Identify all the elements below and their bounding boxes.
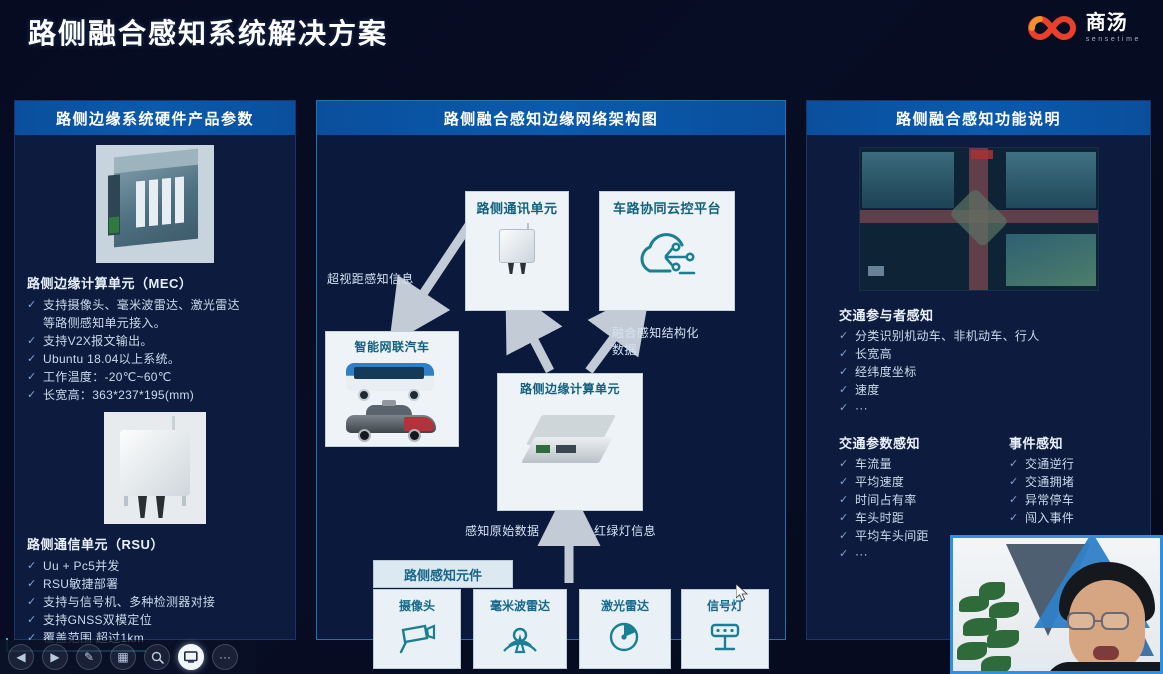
list-item: 支持GNSS双模定位 xyxy=(27,611,295,629)
next-slide-button[interactable]: ▶ xyxy=(42,644,68,670)
page-title: 路侧融合感知系统解决方案 xyxy=(28,12,388,52)
rsu-device-icon xyxy=(494,223,540,273)
mec-feature-list: 支持摄像头、毫米波雷达、激光雷达 等路侧感知单元接入。 支持V2X报文输出。 U… xyxy=(27,296,295,404)
sensor-camera[interactable]: 摄像头 xyxy=(373,589,461,669)
camera-icon xyxy=(397,620,437,654)
mec-photo-wrap xyxy=(15,145,295,263)
logo-cn-text: 商汤 xyxy=(1086,13,1141,33)
list-item: 平均速度 xyxy=(839,473,971,491)
node-label: 车路协同云控平台 xyxy=(613,198,721,217)
cloud-computing-icon xyxy=(630,225,704,287)
events-list: 交通逆行 交通拥堵 异常停车 闯入事件 xyxy=(1009,455,1141,527)
sensor-lidar[interactable]: 激光雷达 xyxy=(579,589,671,669)
list-item: 交通逆行 xyxy=(1009,455,1141,473)
list-item: 工作温度：-20℃~60℃ xyxy=(27,368,295,386)
node-roadside-edge-computing-unit[interactable]: 路侧边缘计算单元 xyxy=(497,373,643,511)
list-item: 车头时距 xyxy=(839,509,971,527)
person-video xyxy=(1049,562,1163,674)
list-item: RSU敏捷部署 xyxy=(27,575,295,593)
webcam-self-view[interactable] xyxy=(950,535,1163,674)
brand-logo: 商汤 sensetime xyxy=(1026,13,1141,43)
sensor-traffic-light[interactable]: 信号灯 xyxy=(681,589,769,669)
right-panel-header: 路侧融合感知功能说明 xyxy=(807,101,1150,135)
list-item: Ubuntu 18.04以上系统。 xyxy=(27,350,295,368)
more-options-button[interactable]: ··· xyxy=(212,644,238,670)
sensor-label: 激光雷达 xyxy=(601,597,649,614)
layout-button[interactable]: ▦ xyxy=(110,644,136,670)
sensor-group-tab[interactable]: 路侧感知元件 xyxy=(373,560,513,588)
presentation-slide: 路侧融合感知系统解决方案 商汤 sensetime 路侧边缘系统硬件产品参数 路… xyxy=(0,0,1163,674)
list-item: 支持摄像头、毫米波雷达、激光雷达 xyxy=(27,296,295,314)
list-item: 车流量 xyxy=(839,455,971,473)
section-title: 交通参数感知 xyxy=(839,433,971,452)
rsu-feature-list: Uu + Pc5并发 RSU敏捷部署 支持与信号机、多种检测器对接 支持GNSS… xyxy=(27,557,295,647)
edge-label-traffic-light-info: 红绿灯信息 xyxy=(594,523,656,540)
intersection-perception-view xyxy=(859,147,1099,291)
sensor-millimeter-wave-radar[interactable]: 毫米波雷达 xyxy=(473,589,567,669)
edge-label-fused-data: 融合感知结构化数据 xyxy=(612,325,722,359)
node-label: 路侧通讯单元 xyxy=(476,198,557,217)
center-panel: 路侧融合感知边缘网络架构图 路侧通讯单元 xyxy=(316,100,786,640)
list-item: 时间占有率 xyxy=(839,491,971,509)
mouse-cursor xyxy=(736,584,750,602)
list-item: 交通拥堵 xyxy=(1009,473,1141,491)
list-item: 长宽高：363*237*195(mm) xyxy=(27,386,295,404)
participants-section: 交通参与者感知 分类识别机动车、非机动车、行人 长宽高 经纬度坐标 速度 ··· xyxy=(839,305,1150,417)
node-connected-vehicle[interactable]: 智能网联汽车 xyxy=(325,331,459,447)
section-title: 事件感知 xyxy=(1009,433,1141,452)
list-item: Uu + Pc5并发 xyxy=(27,557,295,575)
rsu-device-photo xyxy=(104,412,206,524)
right-panel-body: 交通参与者感知 分类识别机动车、非机动车、行人 长宽高 经纬度坐标 速度 ···… xyxy=(807,147,1150,563)
node-label: 路侧边缘计算单元 xyxy=(520,380,620,397)
plant-decor xyxy=(957,582,1031,674)
node-label: 智能网联汽车 xyxy=(354,338,429,355)
traffic-light-icon xyxy=(705,620,745,654)
presentation-toolbar: ◀ ▶ ✎ ▦ ··· xyxy=(0,640,256,674)
vehicles-image xyxy=(340,357,444,445)
node-roadside-communication-unit[interactable]: 路侧通讯单元 xyxy=(465,191,569,311)
list-item: 分类识别机动车、非机动车、行人 xyxy=(839,327,1150,345)
mec-section-title: 路侧边缘计算单元（MEC） xyxy=(27,273,295,292)
pen-tool-button[interactable]: ✎ xyxy=(76,644,102,670)
infinity-icon xyxy=(1026,13,1078,43)
mec-server-photo xyxy=(96,145,214,263)
list-item: 速度 xyxy=(839,381,1150,399)
present-screen-button[interactable] xyxy=(178,644,204,670)
section-title: 交通参与者感知 xyxy=(839,305,1150,324)
list-item: 闯入事件 xyxy=(1009,509,1141,527)
rsu-photo-wrap xyxy=(15,412,295,524)
list-item: 长宽高 xyxy=(839,345,1150,363)
logo-en-text: sensetime xyxy=(1086,36,1141,43)
center-panel-header: 路侧融合感知边缘网络架构图 xyxy=(317,101,785,135)
node-cloud-control-platform[interactable]: 车路协同云控平台 xyxy=(599,191,735,311)
list-item: 支持V2X报文输出。 xyxy=(27,332,295,350)
edge-label-beyond-visual-range: 超视距感知信息 xyxy=(327,271,414,288)
list-item: ··· xyxy=(839,399,1150,417)
left-panel-body: 路侧边缘计算单元（MEC） 支持摄像头、毫米波雷达、激光雷达 等路侧感知单元接入… xyxy=(15,145,295,647)
lidar-icon xyxy=(606,620,644,654)
mec-device-icon xyxy=(524,407,616,477)
sensor-label: 摄像头 xyxy=(399,597,435,614)
list-item: 经纬度坐标 xyxy=(839,363,1150,381)
architecture-diagram: 路侧通讯单元 车路协同云控平台 xyxy=(317,135,785,640)
sensor-label: 毫米波雷达 xyxy=(490,597,550,614)
radar-icon xyxy=(500,620,540,654)
list-item: 支持与信号机、多种检测器对接 xyxy=(27,593,295,611)
rsu-section-title: 路侧通信单元（RSU） xyxy=(27,534,295,553)
left-panel-header: 路侧边缘系统硬件产品参数 xyxy=(15,101,295,135)
previous-slide-button[interactable]: ◀ xyxy=(8,644,34,670)
zoom-button[interactable] xyxy=(144,644,170,670)
list-item: 异常停车 xyxy=(1009,491,1141,509)
list-item: 等路侧感知单元接入。 xyxy=(27,314,295,332)
edge-label-raw-data: 感知原始数据 xyxy=(465,523,539,540)
magnifier-icon xyxy=(151,651,164,664)
left-panel: 路侧边缘系统硬件产品参数 路侧边缘计算单元（MEC） 支持摄像头、毫米波雷达、激… xyxy=(14,100,296,640)
participants-list: 分类识别机动车、非机动车、行人 长宽高 经纬度坐标 速度 ··· xyxy=(839,327,1150,417)
monitor-icon xyxy=(184,651,198,663)
